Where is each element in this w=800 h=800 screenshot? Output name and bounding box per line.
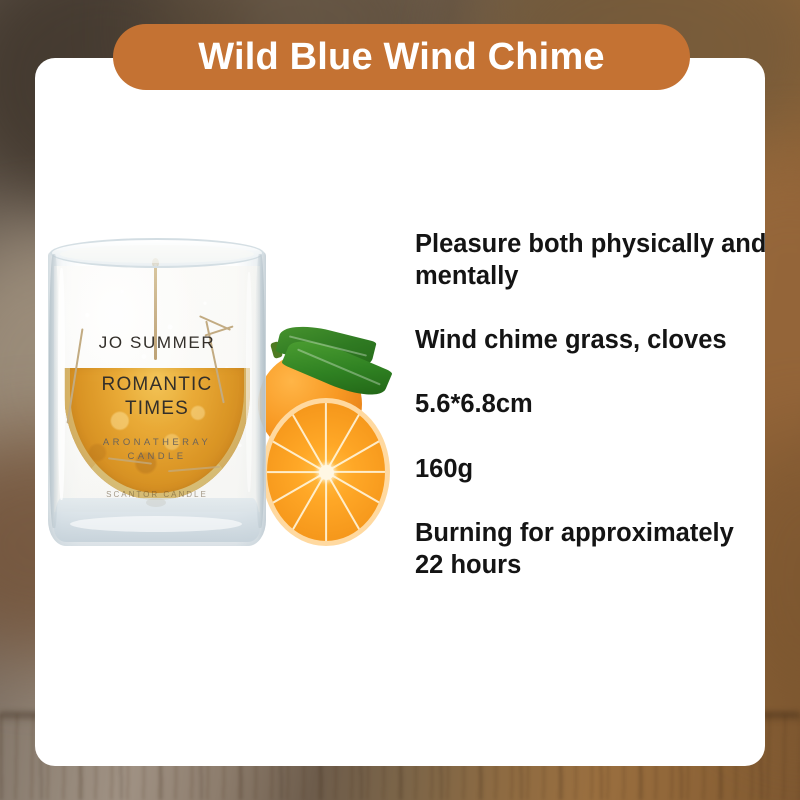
spec-line: 160g bbox=[415, 453, 767, 485]
jar-rim-inner bbox=[60, 245, 254, 263]
orange-core bbox=[319, 465, 334, 480]
jar-label-footer: SCANTOR CANDLE bbox=[48, 490, 266, 499]
spec-line: Burning for approximately 22 hours bbox=[415, 517, 767, 581]
jar-label-subtitle: ARONATHERAY CANDLE bbox=[48, 436, 266, 465]
spec-line: Pleasure both physically and mentally bbox=[415, 228, 767, 292]
orange-flesh bbox=[267, 403, 385, 541]
jar-base-highlight bbox=[70, 516, 242, 532]
spec-list: Pleasure both physically and mentally Wi… bbox=[415, 228, 767, 581]
page-title: Wild Blue Wind Chime bbox=[198, 38, 605, 76]
title-banner: Wild Blue Wind Chime bbox=[113, 24, 690, 90]
orange-rind bbox=[262, 398, 390, 546]
jar-label-name: ROMANTIC TIMES bbox=[48, 373, 266, 422]
jar-label-brand: JO SUMMER bbox=[48, 334, 266, 351]
spec-line: 5.6*6.8cm bbox=[415, 388, 767, 420]
orange-half-slice bbox=[262, 398, 390, 546]
jar-label: JO SUMMER ROMANTIC TIMES ARONATHERAY CAN… bbox=[48, 334, 266, 464]
product-image: Wild Blue Wind Chime bbox=[0, 0, 800, 800]
candle-jar: JO SUMMER ROMANTIC TIMES ARONATHERAY CAN… bbox=[48, 238, 266, 546]
spec-line: Wind chime grass, cloves bbox=[415, 324, 767, 356]
